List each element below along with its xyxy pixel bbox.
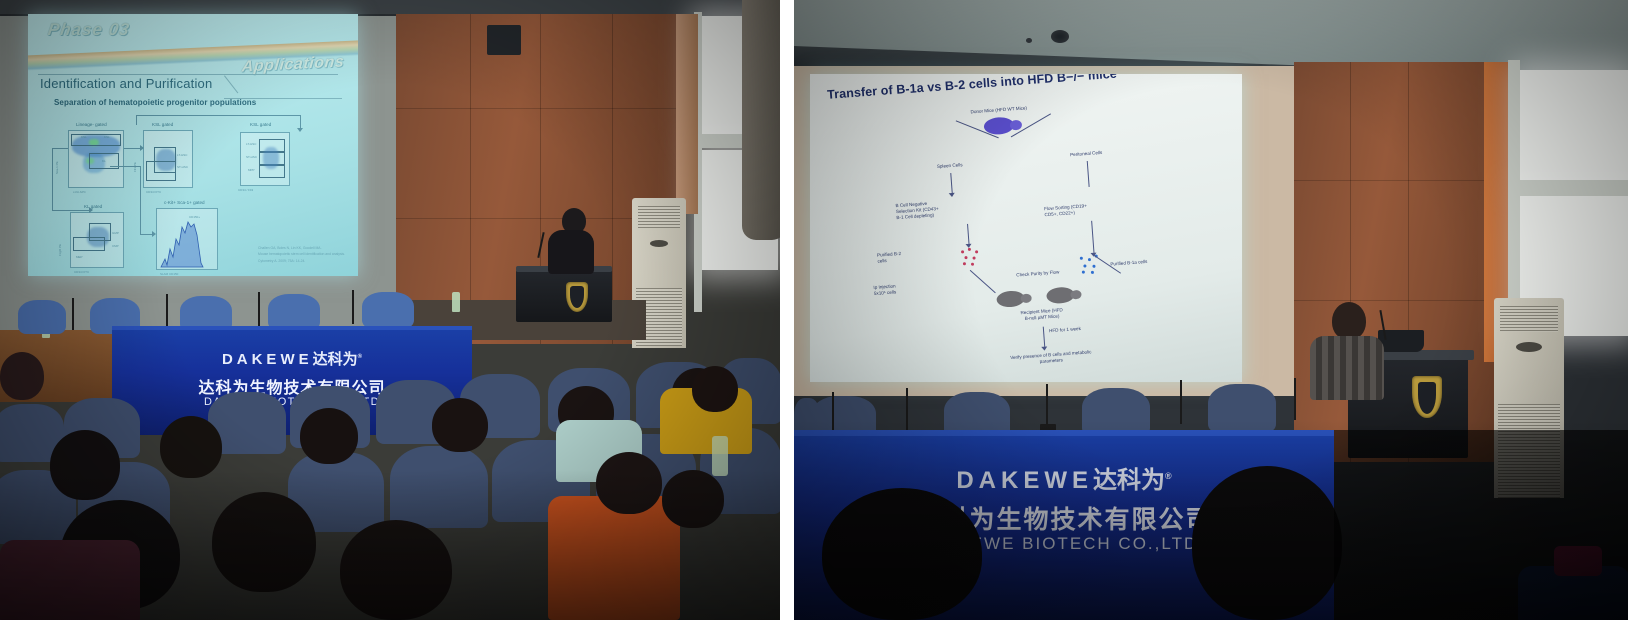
b2-cell-cluster (959, 247, 986, 269)
fcs-plot-1: KSL KSL KL (68, 130, 124, 188)
wall-speaker (487, 25, 521, 55)
flow-node-donor: Donor Mice (HFD WT Mice) (929, 102, 1069, 118)
audience-member (596, 452, 662, 514)
mouse-head-icon (1010, 120, 1023, 131)
ac-vent-grill (1500, 306, 1558, 332)
fcs-y-axis-label: FcgR PE (58, 244, 62, 256)
banner-logo-latin: DAKEWE (956, 467, 1093, 494)
left-wall-pilaster (676, 14, 698, 214)
wood-seam (1294, 300, 1494, 301)
audience-member-coat-orange (548, 496, 680, 620)
fcs-gate-tag: ST-HSC (246, 155, 257, 159)
fcs-gate (73, 237, 105, 251)
photo-divider (780, 0, 794, 620)
fcs-gate-tag: MEP (76, 255, 83, 259)
fcs-gate (146, 161, 176, 181)
cell-dot (1088, 258, 1091, 261)
fcs-panel-label: KSL gated (152, 122, 173, 127)
ceiling-downlight (1026, 38, 1032, 43)
cell-dot (1080, 257, 1083, 260)
slide-citation: Challen GA, Boles N, Lin KK, Goodell MA.… (258, 245, 350, 264)
flow-edge (967, 224, 970, 246)
speaker-body-sweater (1310, 336, 1384, 400)
fcs-y-axis-label: Flt3 PE (133, 162, 137, 172)
right-photo: Transfer of B-1a vs B-2 cells into HFD B… (794, 0, 1628, 620)
flow-node-flow-sorting: Flow Sorting (CD19+ CD5+, CD22+) (1044, 198, 1155, 218)
audience-member-coat-maroon (0, 540, 140, 620)
connector-line (52, 148, 68, 149)
connector-line (140, 166, 141, 234)
fcs-gate-tag: CMP (112, 244, 119, 248)
audience-member (50, 430, 120, 500)
flow-node-peritoneal: Peritoneal Cells (1036, 147, 1136, 160)
flow-node-purified-b2: Purified B-2 cells (877, 248, 948, 265)
histogram-curve (157, 209, 219, 271)
slide-rule (224, 75, 238, 93)
table-microphone (352, 290, 354, 324)
fcs-panel-label: KL gated (84, 204, 102, 209)
fcs-gate-tag: KL (102, 159, 106, 163)
audience-member (822, 488, 982, 620)
speaker-head (1332, 302, 1366, 340)
fcs-gate-tag: ST-HSC (177, 165, 188, 169)
audience-member (300, 408, 358, 464)
fcs-panel-label: Lineage- gated (76, 122, 107, 127)
right-projection-screen: Transfer of B-1a vs B-2 cells into HFD B… (810, 74, 1242, 382)
recipient-mouse-head-icon (1070, 290, 1082, 300)
banner-registered-mark: ® (358, 354, 362, 360)
audience-member (692, 366, 738, 412)
water-bottle (712, 436, 728, 476)
cell-population (263, 147, 279, 169)
recipient-mouse-head-icon (1020, 293, 1032, 303)
arrow-head-icon (152, 231, 156, 237)
connector-line (136, 115, 300, 116)
fcs-gate-tag: LT-HSC (246, 142, 256, 146)
fcs-gate (71, 134, 121, 146)
arrow-head-icon (140, 145, 144, 151)
ceiling-downlight (1051, 30, 1069, 43)
fcs-plot-5-histogram: CD150+ (156, 208, 218, 270)
flow-node-hfd-week: HFD for 1 week (1049, 322, 1129, 334)
left-projection-screen: Phase 03 Applications Identification and… (28, 14, 358, 276)
banner-registered-mark: ® (1165, 471, 1172, 481)
wood-seam (1294, 180, 1494, 181)
table-microphone (1294, 378, 1296, 420)
flow-node-injection: Ip Injection 5x10⁶ cells (873, 279, 954, 297)
table-microphone (1046, 384, 1048, 428)
cell-dot (961, 250, 964, 253)
fcs-x-axis-label: CD34 / Flt3 (238, 188, 253, 192)
fcs-plot-2: LT-HSC ST-HSC (143, 130, 193, 188)
banner-logo-cn: 达科为 (313, 351, 358, 368)
cell-dot (1092, 265, 1095, 268)
flow-edge (950, 173, 953, 195)
left-podium (516, 270, 612, 322)
banner-logo-latin: DAKEWE (222, 351, 313, 368)
fcs-gate-tag: MPP (248, 168, 255, 172)
flow-node-check-purity: Check Purity by Flow (983, 267, 1093, 281)
water-bottle (452, 292, 460, 312)
fcs-gate-tag: LT-HSC (177, 153, 187, 157)
table-microphone (258, 292, 260, 326)
cell-dot (975, 250, 978, 253)
flow-node-recipient: Recipient Mice (HFD B-null µMT Mice) (982, 304, 1103, 325)
cell-dot (972, 256, 975, 259)
ac-badge-icon (1516, 342, 1542, 352)
wood-seam (470, 14, 471, 344)
ac-vent-grill (638, 206, 680, 228)
connector-line (52, 148, 53, 210)
slide-title: Transfer of B-1a vs B-2 cells into HFD B… (827, 74, 1118, 102)
head-table-chair (1208, 384, 1276, 432)
flow-edge (1087, 161, 1090, 187)
cell-dot (964, 256, 967, 259)
fcs-gate-tag: CD150+ (189, 215, 200, 219)
audience-member-clothing-pink (1554, 546, 1602, 576)
connector-line (110, 166, 140, 167)
table-microphone (1180, 380, 1182, 424)
arrow-head-icon (1041, 346, 1047, 350)
speaker-body (548, 230, 594, 274)
right-window-upper (1520, 70, 1628, 180)
fcs-x-axis-label: SLAM CD150 (160, 272, 178, 276)
connector-line (300, 115, 301, 129)
audience-seat (390, 446, 488, 528)
flow-node-spleen: Spleen Cells (905, 160, 995, 173)
audience-member (212, 492, 316, 592)
flow-edge (1043, 327, 1046, 349)
head-table-chair (362, 292, 414, 328)
slide-phase-label: Phase 03 (47, 20, 132, 40)
fcs-panel-label: c-Kit+ Sca-1+ gated (164, 200, 205, 205)
ac-lower-grill (1498, 404, 1560, 498)
fcs-gate-tag: KSL (81, 135, 87, 139)
cell-dot (968, 248, 971, 251)
connector-line (136, 115, 137, 125)
flow-node-purified-b1a: Purified B-1a cells (1110, 254, 1210, 267)
fcs-x-axis-label: CD34 FITC (146, 190, 161, 194)
wood-seam (396, 108, 686, 109)
arrow-head-icon (949, 193, 955, 197)
fcs-plot-4: GMP CMP MEP (70, 212, 124, 268)
right-slide: Transfer of B-1a vs B-2 cells into HFD B… (810, 74, 1242, 382)
audience-member (432, 398, 488, 452)
slide-subheading: Separation of hematopoietic progenitor p… (54, 98, 256, 107)
banner-logo: DAKEWE达科为® (112, 348, 472, 369)
left-curtain (742, 0, 780, 240)
left-photo: Phase 03 Applications Identification and… (0, 0, 780, 620)
wood-seam (612, 14, 613, 344)
table-microphone (166, 294, 168, 328)
left-slide: Phase 03 Applications Identification and… (28, 14, 358, 276)
arrow-head-icon (297, 128, 303, 132)
cell-dot (971, 263, 974, 266)
fcs-gate-tag: GMP (112, 231, 119, 235)
audience-member (1192, 466, 1342, 620)
slide-heading: Identification and Purification (40, 76, 212, 91)
fcs-gate-tag: KSL (104, 135, 110, 139)
flow-node-bcell-selection: B Cell Negative Selection Kit (CD43+ B-1… (895, 195, 1014, 222)
head-table-chair (18, 300, 66, 334)
ac-badge-icon (650, 240, 668, 247)
table-microphone (832, 392, 834, 434)
banner-logo-cn: 达科为 (1093, 467, 1165, 494)
audience-member (160, 416, 222, 478)
fcs-x-axis-label: c-Kit APC (73, 190, 86, 194)
head-table-chair (268, 294, 320, 330)
cell-dot (963, 262, 966, 265)
audience-member (340, 520, 452, 620)
connector-line (52, 210, 92, 211)
window-frame (1508, 180, 1628, 196)
photo-pair-stage: Phase 03 Applications Identification and… (0, 0, 1628, 620)
flow-edge (1091, 221, 1094, 255)
table-microphone (906, 388, 908, 432)
fcs-x-axis-label: CD34 FITC (74, 270, 89, 274)
audience-member (0, 352, 44, 400)
table-microphone (72, 298, 74, 330)
fcs-y-axis-label: Sca-1 PE (55, 161, 59, 174)
arrow-head-icon (89, 207, 93, 213)
head-table-chair (1082, 388, 1150, 436)
flow-node-verify: Verify presence of B cells and metabolic… (951, 345, 1151, 372)
fcs-plot-3: LT-HSC ST-HSC MPP (240, 132, 290, 186)
fcs-panel-label: KSL gated (250, 122, 271, 127)
slide-rule (38, 74, 338, 75)
audience-member (662, 470, 724, 528)
